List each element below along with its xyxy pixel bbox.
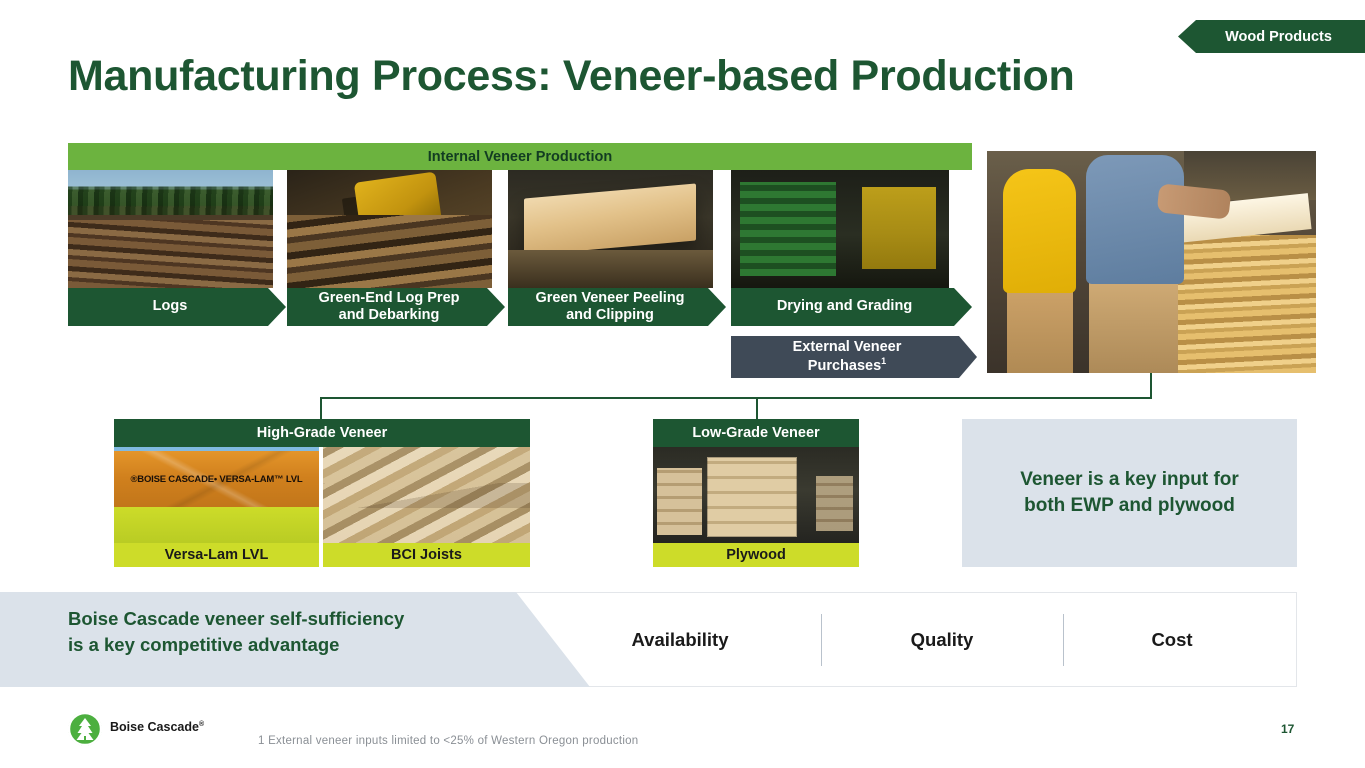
callout-line1: Veneer is a key input for [1020, 469, 1239, 490]
plywood-stack-center [707, 457, 798, 538]
high-grade-veneer-label: High-Grade Veneer [257, 425, 388, 441]
veneer-key-input-callout: Veneer is a key input for both EWP and p… [962, 419, 1297, 567]
process-step-logs[interactable]: Logs [68, 288, 286, 326]
footnote: 1 External veneer inputs limited to <25%… [258, 735, 638, 747]
ribbon-label: Wood Products [1225, 29, 1332, 45]
callout-line2: both EWP and plywood [1024, 495, 1235, 516]
lvl-beam-stamp: ®BOISE CASCADE• VERSA-LAM™ LVL [126, 474, 306, 485]
worker-two-legs [1089, 271, 1178, 373]
self-sufficiency-line1: Boise Cascade veneer self-sufficiency [68, 608, 404, 629]
external-veneer-purchases-step[interactable]: External Veneer Purchases1 [731, 336, 977, 378]
process-step-log-prep-line2: and Debarking [339, 307, 440, 323]
product-label-bci-joists-text: BCI Joists [391, 547, 462, 563]
tree-in-circle-logo [68, 712, 102, 746]
self-sufficiency-statement: Boise Cascade veneer self-sufficiency is… [68, 606, 508, 659]
product-label-versa-lam-text: Versa-Lam LVL [165, 547, 269, 563]
worker-one-yellow-shirt [1003, 169, 1075, 293]
pillar-availability: Availability [588, 592, 772, 687]
product-label-plywood[interactable]: Plywood [653, 543, 859, 567]
process-step-log-prep[interactable]: Green-End Log Prep and Debarking [287, 288, 505, 326]
plywood-stacks-photo [653, 447, 859, 543]
self-sufficiency-line2: is a key competitive advantage [68, 634, 339, 655]
process-step-veneer-peeling-line2: and Clipping [566, 307, 654, 323]
process-step-drying-grading-label: Drying and Grading [777, 298, 912, 315]
plywood-stack-left [657, 468, 702, 535]
process-step-logs-label: Logs [153, 298, 188, 315]
process-step-drying-grading[interactable]: Drying and Grading [731, 288, 972, 326]
pillar-cost-label: Cost [1151, 629, 1192, 651]
slide-canvas: Wood Products Manufacturing Process: Ven… [0, 0, 1365, 768]
external-veneer-footnote-marker: 1 [881, 356, 886, 366]
pillar-divider-one [821, 614, 822, 666]
process-step-veneer-peeling[interactable]: Green Veneer Peeling and Clipping [508, 288, 726, 326]
low-grade-veneer-header: Low-Grade Veneer [653, 419, 859, 447]
connector-drop-low-grade [756, 397, 758, 419]
product-label-versa-lam[interactable]: Versa-Lam LVL [114, 543, 319, 567]
external-veneer-line1: External Veneer [793, 339, 902, 355]
pillar-cost: Cost [1080, 592, 1264, 687]
versa-lam-beam-photo: ®BOISE CASCADE• VERSA-LAM™ LVL [114, 447, 319, 543]
page-number: 17 [1281, 722, 1294, 736]
internal-veneer-production-label: Internal Veneer Production [428, 149, 613, 165]
veneer-peeling-photo [508, 170, 713, 288]
process-step-log-prep-line1: Green-End Log Prep [319, 290, 460, 306]
process-step-veneer-peeling-line1: Green Veneer Peeling [535, 290, 684, 306]
worker-two-blue-shirt [1086, 155, 1185, 284]
bottom-banner: Boise Cascade veneer self-sufficiency is… [0, 592, 1297, 687]
drying-grading-mill-photo [731, 170, 949, 288]
product-label-plywood-text: Plywood [726, 547, 786, 563]
internal-veneer-production-band: Internal Veneer Production [68, 143, 972, 170]
bci-joists-photo [323, 447, 530, 543]
wood-products-ribbon: Wood Products [1178, 20, 1365, 53]
page-title: Manufacturing Process: Veneer-based Prod… [68, 52, 1075, 101]
connector-riser-to-photo [1150, 373, 1152, 399]
product-label-bci-joists[interactable]: BCI Joists [323, 543, 530, 567]
low-grade-veneer-label: Low-Grade Veneer [692, 425, 819, 441]
worker-one-legs [1007, 280, 1073, 373]
external-veneer-line2: Purchases [808, 358, 881, 374]
log-loader-photo [287, 170, 492, 288]
connector-horizontal [320, 397, 1152, 399]
connector-drop-high-grade [320, 397, 322, 419]
high-grade-veneer-header: High-Grade Veneer [114, 419, 530, 447]
pillar-availability-label: Availability [632, 629, 729, 651]
workers-handling-veneer-photo [987, 151, 1316, 373]
pillar-quality: Quality [850, 592, 1034, 687]
logo-wordmark: Boise Cascade® [110, 720, 204, 734]
pillar-divider-two [1063, 614, 1064, 666]
logo-wordmark-text: Boise Cascade [110, 720, 199, 734]
pillar-quality-label: Quality [911, 629, 974, 651]
registered-mark: ® [199, 721, 204, 728]
logs-in-forest-photo [68, 170, 273, 288]
plywood-stack-right [816, 476, 853, 532]
